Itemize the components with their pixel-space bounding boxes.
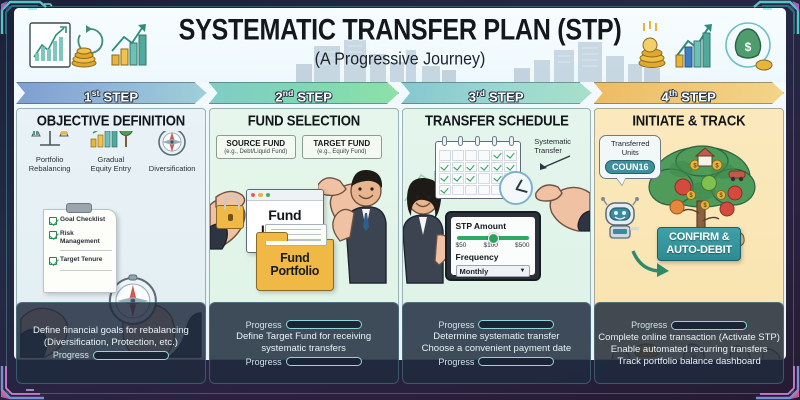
- cta-line-1: CONFIRM &: [660, 231, 738, 244]
- panel-2-title: FUND SELECTION: [213, 108, 395, 132]
- target-fund-title: TARGET FUND: [304, 139, 380, 148]
- clipboard-clip-icon: [66, 203, 92, 213]
- businessman-illustration: [332, 155, 398, 285]
- caption-line: Complete online transaction (Activate ST…: [598, 332, 780, 344]
- caption-cell-2: Progress Define Target Fund for receivin…: [209, 302, 399, 384]
- progress-bar: [478, 357, 554, 366]
- source-fund-title: SOURCE FUND: [218, 139, 294, 148]
- hand-pointing-clock-icon: [532, 177, 590, 233]
- source-fund-subtitle: (e.g., Debt/Liquid Fund): [218, 149, 294, 155]
- calendar-ring: [509, 136, 514, 146]
- calendar-rings: [442, 136, 514, 146]
- progress-bar: [93, 351, 169, 360]
- progress-label: Progress: [631, 320, 667, 330]
- caption-line: (Diversification, Protection, etc.): [44, 337, 178, 349]
- progress-bar: [286, 357, 362, 366]
- progress-row: Progress: [53, 350, 169, 360]
- fund-portfolio-line-2: Portfolio: [257, 265, 333, 278]
- calendar-day-cell-checked[interactable]: [478, 162, 490, 173]
- padlock-icon: [216, 205, 244, 229]
- caption-line: Define financial goals for rebalancing: [33, 325, 189, 337]
- panel-3-title: TRANSFER SCHEDULE: [405, 108, 587, 132]
- progress-label: Progress: [246, 357, 282, 367]
- cap-line-2: Equity Entry: [81, 164, 142, 173]
- step-4-ordinal: 4: [662, 89, 669, 104]
- calendar-ring: [492, 136, 497, 146]
- cap-line-1: Portfolio: [19, 155, 80, 164]
- target-fund-tag[interactable]: TARGET FUND (e.g., Equity Fund): [302, 135, 382, 159]
- calendar-day-cell[interactable]: [478, 185, 490, 196]
- stp-amount-tablet[interactable]: STP Amount $50 $100 $500 Frequency: [445, 211, 541, 281]
- progress-label: Progress: [438, 357, 474, 367]
- step-2-suffix: nd: [283, 88, 294, 98]
- fund-portfolio-folder[interactable]: Fund Portfolio: [256, 239, 334, 291]
- checklist-item-label: Goal Checklist: [60, 216, 105, 224]
- calendar-day-cell-checked[interactable]: [491, 150, 503, 161]
- step-ribbon-4[interactable]: 4th STEP: [594, 82, 785, 104]
- progress-row: Progress: [631, 320, 747, 330]
- slider-tick-max: $500: [515, 242, 529, 249]
- progress-row: Progress: [438, 357, 554, 367]
- step-ribbon-row: 1st STEP 2nd STEP 3rd STEP 4th STEP: [14, 82, 786, 106]
- infographic-frame: $ SYSTEMATIC TRANSFER PLAN (STP) (A Prog…: [0, 0, 800, 400]
- step-3-suffix: rd: [476, 88, 485, 98]
- note-line-1: Systematic: [534, 137, 588, 146]
- calendar-day-cell[interactable]: [478, 150, 490, 161]
- caption-cell-3: Progress Determine systematic transfer C…: [402, 302, 592, 384]
- fund-linking-line-1: Fund: [247, 208, 323, 223]
- progress-row: Progress: [246, 320, 362, 330]
- stp-amount-slider[interactable]: [457, 236, 529, 240]
- progress-label: Progress: [53, 350, 89, 360]
- tablet-screen: STP Amount $50 $100 $500 Frequency: [451, 217, 535, 275]
- goal-checklist-clipboard[interactable]: Goal Checklist Risk Management Target Te…: [43, 209, 117, 293]
- calendar-day-cell-checked[interactable]: [491, 162, 503, 173]
- calendar-day-cell-checked[interactable]: [452, 173, 464, 184]
- progress-bar: [671, 321, 747, 330]
- maximize-icon[interactable]: [266, 193, 271, 198]
- step-ribbon-2-label: 2nd STEP: [209, 82, 400, 104]
- step-ribbon-1-label: 1st STEP: [16, 82, 207, 104]
- clock-icon: [499, 171, 533, 205]
- bubble-line-2: Units: [602, 148, 658, 157]
- checklist-item[interactable]: Target Tenure: [49, 256, 112, 265]
- caption-line: Enable automated recurring transfers: [611, 344, 768, 356]
- icon-caption-diversification: Diversification: [142, 164, 203, 173]
- checkbox-checked-icon[interactable]: [49, 257, 57, 265]
- cap-line-1: Diversification: [142, 164, 203, 173]
- window-titlebar: [247, 190, 323, 201]
- caption-line: Track portfolio balance dashboard: [617, 356, 760, 368]
- folder-tab: [256, 232, 288, 241]
- step-4-suffix: th: [669, 88, 677, 98]
- cta-line-2: AUTO-DEBIT: [660, 244, 738, 257]
- checkbox-checked-icon[interactable]: [49, 217, 57, 225]
- checklist-item-label: Target Tenure: [60, 256, 102, 264]
- caption-line: systematic transfers: [261, 343, 345, 355]
- close-icon[interactable]: [251, 193, 256, 198]
- calendar-ring: [458, 136, 463, 146]
- progress-bar: [478, 320, 554, 329]
- panel-4-title: INITIATE & TRACK: [598, 108, 780, 132]
- frequency-dropdown[interactable]: Monthly ▼: [456, 265, 530, 277]
- step-ribbon-4-label: 4th STEP: [594, 82, 785, 104]
- transferred-units-count: COUN16: [605, 160, 655, 174]
- calendar-day-cell-checked[interactable]: [465, 173, 477, 184]
- caption-line: Define Target Fund for receiving: [236, 331, 371, 343]
- calendar-day-cell-checked[interactable]: [439, 162, 451, 173]
- caption-line: Choose a convenient payment date: [422, 343, 571, 355]
- step-ribbon-2[interactable]: 2nd STEP: [209, 82, 400, 104]
- balance-scale-icon: [30, 131, 70, 149]
- calendar-day-cell-checked[interactable]: [452, 162, 464, 173]
- icon-cell-rebalancing: Portfolio Rebalancing: [19, 131, 80, 173]
- bubble-line-1: Transferred: [602, 139, 658, 148]
- step-3-word: STEP: [489, 89, 524, 104]
- checklist-item-label: Risk Management: [60, 230, 112, 245]
- calendar-day-cell[interactable]: [452, 150, 464, 161]
- panel-1-icon-row: Portfolio Rebalancing: [17, 131, 205, 173]
- step-1-suffix: st: [92, 88, 100, 98]
- icon-caption-rebalancing: Portfolio Rebalancing: [19, 155, 80, 173]
- step-ribbon-3-label: 3rd STEP: [401, 82, 592, 104]
- step-4-word: STEP: [681, 89, 716, 104]
- calendar-ring: [442, 136, 447, 146]
- step-ribbon-3[interactable]: 3rd STEP: [401, 82, 592, 104]
- calendar-day-cell-checked[interactable]: [439, 173, 451, 184]
- calendar-day-cell[interactable]: [439, 150, 451, 161]
- calendar-day-cell-checked[interactable]: [439, 185, 451, 196]
- page-title: SYSTEMATIC TRANSFER PLAN (STP): [20, 14, 780, 48]
- growth-bar-chart-tree-icon: [89, 131, 133, 149]
- caption-cell-4: Progress Complete online transaction (Ac…: [594, 302, 784, 384]
- cap-line-1: Gradual: [81, 155, 142, 164]
- page-subtitle: (A Progressive Journey): [14, 50, 786, 70]
- calendar-day-cell[interactable]: [465, 185, 477, 196]
- cap-line-2: Rebalancing: [19, 164, 80, 173]
- icon-cell-equity-entry: Gradual Equity Entry: [81, 131, 142, 173]
- annotation-arrow-icon: [534, 154, 574, 172]
- step-1-ordinal: 1: [84, 89, 91, 104]
- checklist-item[interactable]: Risk Management: [49, 230, 112, 245]
- calendar-day-cell[interactable]: [465, 150, 477, 161]
- stp-amount-label: STP Amount: [456, 221, 530, 231]
- divider-line: [60, 270, 112, 271]
- divider-line: [60, 250, 112, 251]
- calendar-day-cell-checked[interactable]: [504, 150, 516, 161]
- frequency-value: Monthly: [460, 267, 489, 276]
- step-2-ordinal: 2: [275, 89, 282, 104]
- robot-assistant-icon: [601, 197, 639, 239]
- progress-bar: [286, 320, 362, 329]
- systematic-transfer-note: Systematic Transfer: [534, 137, 588, 172]
- caption-footer-row: Define financial goals for rebalancing (…: [14, 302, 786, 384]
- caption-line: Determine systematic transfer: [433, 331, 559, 343]
- step-1-word: STEP: [103, 89, 138, 104]
- checklist-item[interactable]: Goal Checklist: [49, 216, 112, 225]
- progress-label: Progress: [438, 320, 474, 330]
- note-line-2: Transfer: [534, 146, 588, 155]
- hero-band: $ SYSTEMATIC TRANSFER PLAN (STP) (A Prog…: [14, 8, 786, 82]
- chevron-down-icon[interactable]: ▼: [520, 268, 526, 274]
- progress-row: Progress: [246, 357, 362, 367]
- minimize-icon[interactable]: [258, 193, 263, 198]
- step-ribbon-1[interactable]: 1st STEP: [16, 82, 207, 104]
- frequency-label: Frequency: [456, 252, 530, 262]
- caption-cell-1: Define financial goals for rebalancing (…: [16, 302, 206, 384]
- checkbox-checked-icon[interactable]: [49, 231, 57, 239]
- icon-caption-equity-entry: Gradual Equity Entry: [81, 155, 142, 173]
- calendar-ring: [475, 136, 480, 146]
- compass-icon: [156, 131, 188, 158]
- source-fund-tag[interactable]: SOURCE FUND (e.g., Debt/Liquid Fund): [216, 135, 296, 159]
- panel-1-title: OBJECTIVE DEFINITION: [20, 108, 202, 132]
- progress-row: Progress: [438, 320, 554, 330]
- target-fund-subtitle: (e.g., Equity Fund): [304, 149, 380, 155]
- calendar-day-cell-checked[interactable]: [465, 162, 477, 173]
- progress-label: Progress: [246, 320, 282, 330]
- calendar-day-cell[interactable]: [452, 185, 464, 196]
- calendar-day-cell[interactable]: [478, 173, 490, 184]
- transferred-units-bubble: Transferred Units COUN16: [599, 135, 661, 179]
- icon-cell-diversification: Diversification: [142, 131, 203, 173]
- step-2-word: STEP: [297, 89, 332, 104]
- title-block: SYSTEMATIC TRANSFER PLAN (STP) (A Progre…: [14, 14, 786, 69]
- slider-knob[interactable]: [488, 233, 499, 244]
- slider-tick-min: $50: [456, 242, 467, 249]
- confirm-auto-debit-button[interactable]: CONFIRM & AUTO-DEBIT: [657, 227, 741, 261]
